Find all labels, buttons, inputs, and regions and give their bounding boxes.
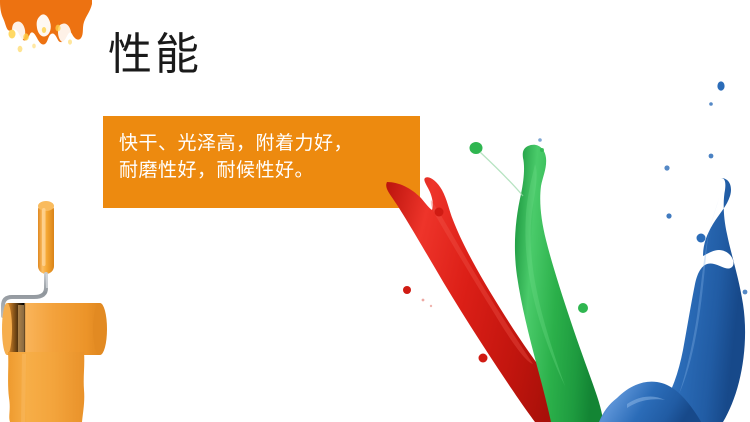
- paint-roller-icon: [0, 196, 120, 422]
- orange-splash-icon: [0, 0, 92, 58]
- rgb-paint-splash-icon: [385, 78, 750, 422]
- slide-canvas: 性能 快干、光泽高，附着力好， 耐磨性好，耐候性好。: [0, 0, 750, 422]
- caption-text: 快干、光泽高，附着力好， 耐磨性好，耐候性好。: [119, 130, 404, 184]
- slide-title: 性能: [108, 28, 202, 82]
- caption-box: 快干、光泽高，附着力好， 耐磨性好，耐候性好。: [103, 116, 420, 208]
